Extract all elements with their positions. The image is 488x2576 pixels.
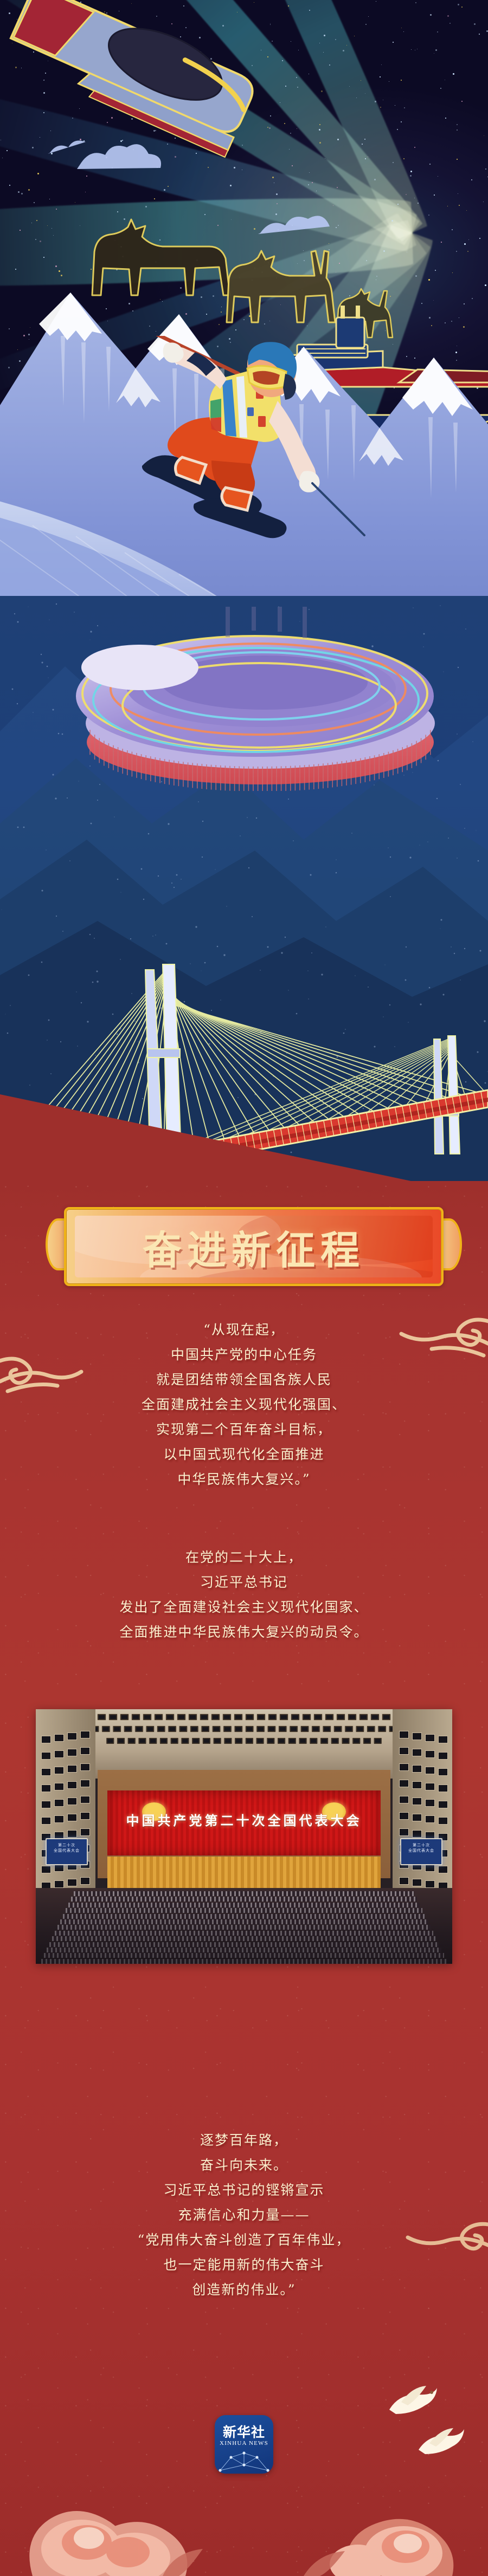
- title-banner: 奋进新征程: [64, 1207, 444, 1286]
- quote-line: 习近平总书记的铿锵宣示: [0, 2178, 488, 2203]
- quote-line: 全面推进中华民族伟大复兴的动员令。: [0, 1620, 488, 1645]
- quote-line: 也一定能用新的伟大奋斗: [0, 2253, 488, 2277]
- quote-line: “从现在起，: [0, 1318, 488, 1342]
- quote-line: 以中国式现代化全面推进: [0, 1442, 488, 1467]
- photo-ceiling: [36, 1709, 452, 1779]
- dove-icon: [380, 2378, 445, 2427]
- quote-line: 中华民族伟大复兴。”: [0, 1467, 488, 1492]
- quote-line: 充满信心和力量——: [0, 2203, 488, 2228]
- photo-gold-curtain: [107, 1857, 381, 1890]
- quote-line: 在党的二十大上，: [0, 1545, 488, 1570]
- quote-line: 奋斗向未来。: [0, 2153, 488, 2178]
- quote-line: 逐梦百年路，: [0, 2128, 488, 2153]
- quote-line: 中国共产党的中心任务: [0, 1342, 488, 1367]
- photo-screen-right: 第二十次全国代表大会: [400, 1838, 442, 1865]
- dove-icon-2: [412, 2422, 472, 2465]
- quote-block-2: 在党的二十大上， 习近平总书记 发出了全面建设社会主义现代化国家、 全面推进中华…: [0, 1545, 488, 1645]
- quote-line: 全面建成社会主义现代化强国、: [0, 1392, 488, 1417]
- xinhua-logo: 新华社 XINHUA NEWS: [215, 2415, 273, 2474]
- quote-line: 就是团结带领全国各族人民: [0, 1367, 488, 1392]
- photo-hall-banner-text: 中国共产党第二十次全国代表大会: [107, 1810, 381, 1829]
- congress-hall-photo: 中国共产党第二十次全国代表大会 第二十次全国代表大会 第二十次全国代表大会: [36, 1709, 452, 1964]
- quote-line: “党用伟大奋斗创造了百年伟业，: [0, 2228, 488, 2253]
- banner-title-text: 奋进新征程: [66, 1209, 441, 1284]
- quote-block-3: 逐梦百年路， 奋斗向未来。 习近平总书记的铿锵宣示 充满信心和力量—— “党用伟…: [0, 2128, 488, 2302]
- photo-screen-left: 第二十次全国代表大会: [46, 1838, 88, 1865]
- ice-ribbon-stadium-icon: [49, 607, 461, 791]
- quote-block-1: “从现在起， 中国共产党的中心任务 就是团结带领全国各族人民 全面建成社会主义现…: [0, 1318, 488, 1492]
- banner-frame: 奋进新征程: [64, 1207, 444, 1286]
- alpine-skier-icon: [130, 336, 380, 569]
- logo-english-text: XINHUA NEWS: [215, 2440, 273, 2447]
- poster-root: 奋进新征程 “从现在起， 中国共产党的中心任务 就是团结带领全国各族人民 全面建…: [0, 0, 488, 2576]
- quote-line: 实现第二个百年奋斗目标，: [0, 1417, 488, 1442]
- photo-delegate-floor: [36, 1888, 452, 1964]
- quote-line: 习近平总书记: [0, 1570, 488, 1595]
- network-graphic-icon: [215, 2449, 273, 2474]
- logo-chinese-text: 新华社: [215, 2422, 273, 2441]
- quote-line: 发出了全面建设社会主义现代化国家、: [0, 1595, 488, 1620]
- quote-line: 创造新的伟业。”: [0, 2277, 488, 2302]
